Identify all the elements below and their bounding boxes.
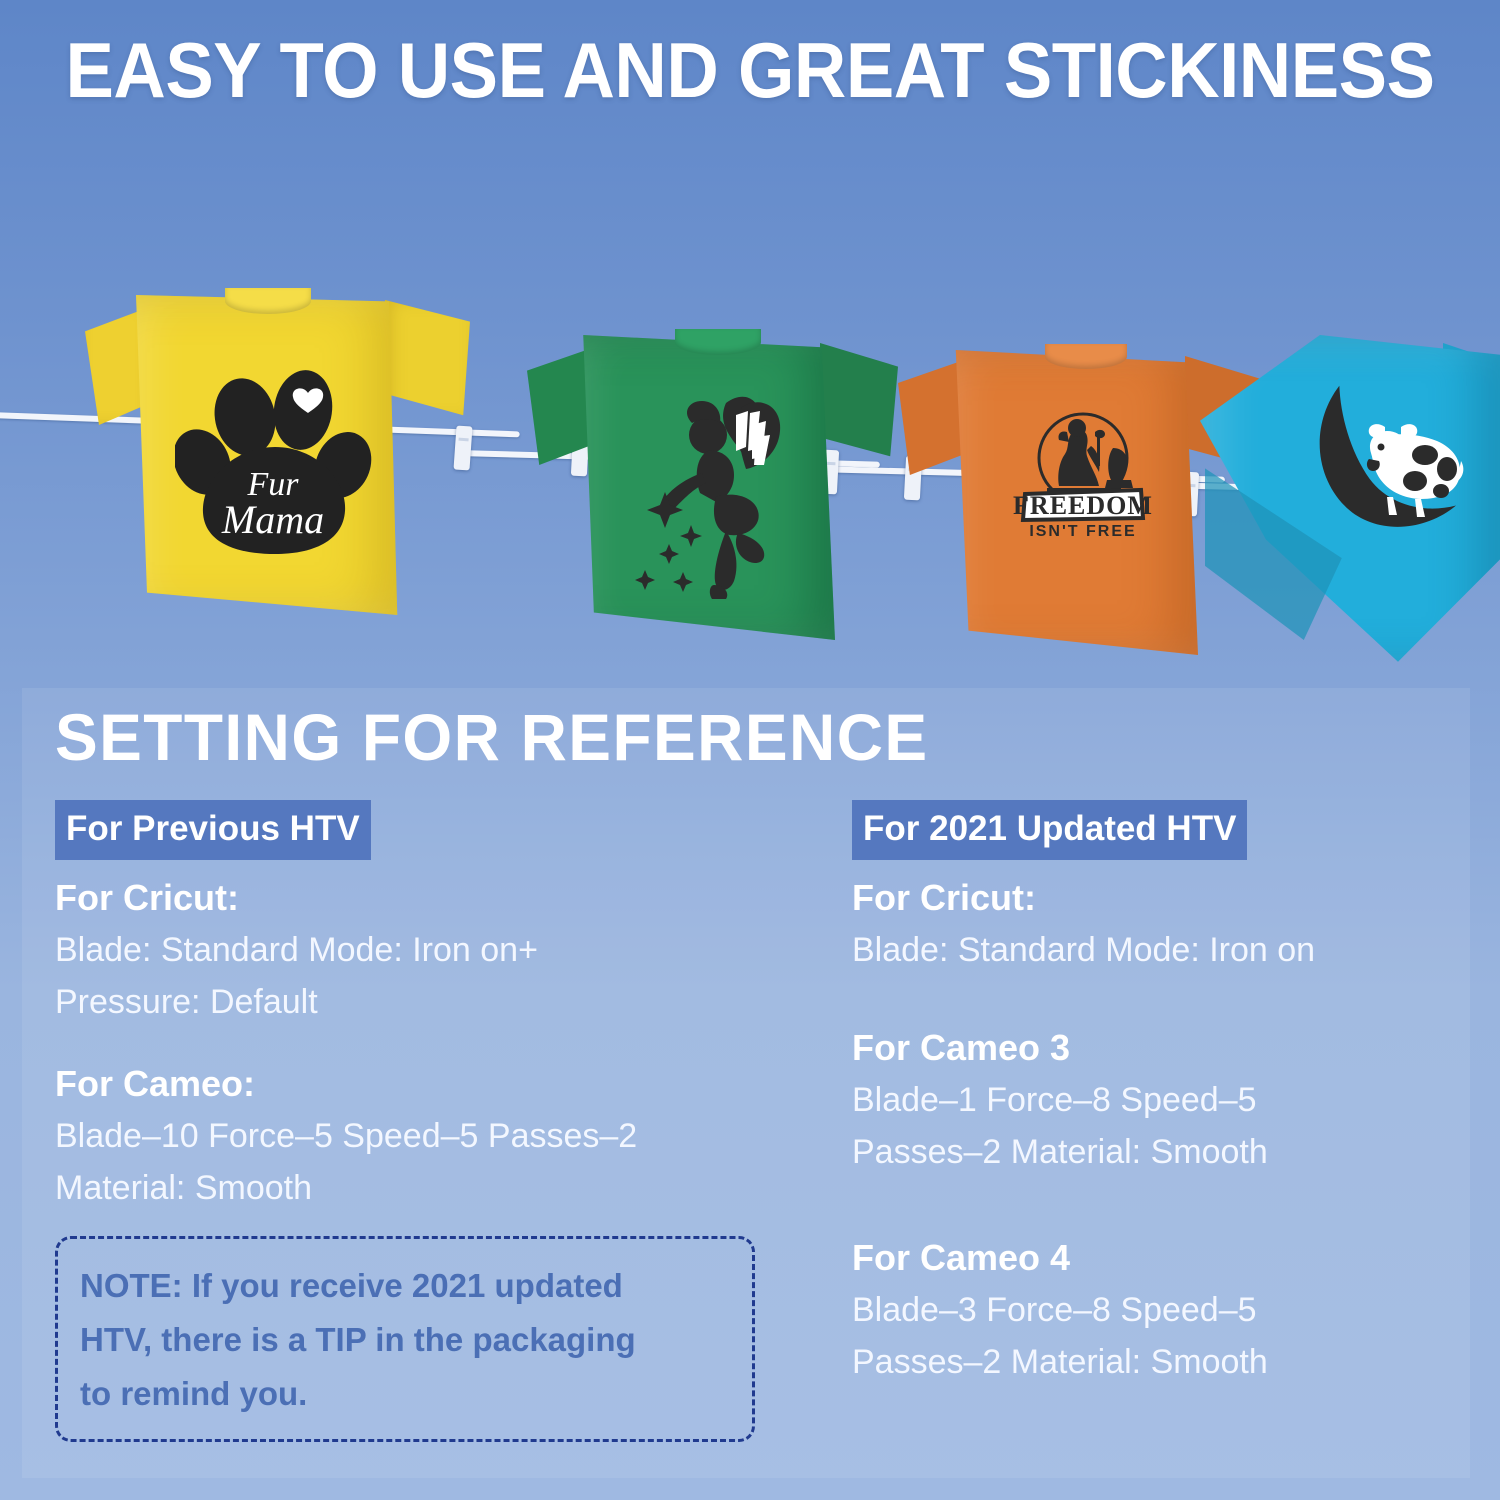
shirt-collar bbox=[225, 288, 311, 314]
block-line: Material: Smooth bbox=[55, 1162, 755, 1214]
settings-block: For Cameo 4 Blade–3 Force–8 Speed–5 Pass… bbox=[852, 1236, 1472, 1388]
sleeve-left bbox=[898, 360, 964, 475]
block-line: Blade–10 Force–5 Speed–5 Passes–2 bbox=[55, 1110, 755, 1162]
tshirt-yellow: Fur Mama bbox=[85, 260, 465, 620]
sleeve-right bbox=[385, 300, 470, 420]
note-line: NOTE: If you receive 2021 updated bbox=[80, 1259, 730, 1313]
block-line: Pressure: Default bbox=[55, 976, 755, 1028]
block-heading: For Cameo 3 bbox=[852, 1026, 1472, 1070]
block-heading: For Cricut: bbox=[55, 876, 755, 920]
settings-column-updated: For 2021 Updated HTV For Cricut: Blade: … bbox=[852, 800, 1472, 1388]
settings-block: For Cameo 3 Blade–1 Force–8 Speed–5 Pass… bbox=[852, 1026, 1472, 1178]
block-heading: For Cricut: bbox=[852, 876, 1472, 920]
note-line: to remind you. bbox=[80, 1367, 730, 1421]
freedom-banner-text: FREEDOM bbox=[1013, 491, 1153, 520]
note-box: NOTE: If you receive 2021 updated HTV, t… bbox=[55, 1236, 755, 1442]
block-heading: For Cameo: bbox=[55, 1062, 755, 1106]
block-line: Blade–1 Force–8 Speed–5 bbox=[852, 1074, 1472, 1126]
shirt-collar bbox=[675, 329, 761, 355]
cow-jumping-over-moon-graphic bbox=[1305, 365, 1485, 555]
tshirt-green bbox=[525, 305, 885, 655]
block-line: Blade–3 Force–8 Speed–5 bbox=[852, 1284, 1472, 1336]
freedom-subtext: ISN'T FREE bbox=[1029, 523, 1136, 540]
tshirt-blue bbox=[1185, 325, 1500, 685]
page-headline: EASY TO USE AND GREAT STICKINESS bbox=[53, 28, 1448, 112]
shirt-collar bbox=[1045, 344, 1127, 369]
fairy-silhouette-graphic bbox=[630, 385, 810, 600]
block-heading: For Cameo 4 bbox=[852, 1236, 1472, 1280]
block-line: Blade: Standard Mode: Iron on+ bbox=[55, 924, 755, 976]
settings-block: For Cricut: Blade: Standard Mode: Iron o… bbox=[55, 876, 755, 1028]
column-header-updated-htv: For 2021 Updated HTV bbox=[852, 800, 1247, 860]
settings-block: For Cameo: Blade–10 Force–5 Speed–5 Pass… bbox=[55, 1062, 755, 1214]
settings-column-previous: For Previous HTV For Cricut: Blade: Stan… bbox=[55, 800, 755, 1214]
freedom-emblem-graphic: FREEDOM ISN'T FREE bbox=[1003, 402, 1163, 542]
settings-panel: SETTING FOR REFERENCE For Previous HTV F… bbox=[22, 688, 1470, 1478]
sleeve-right bbox=[820, 343, 898, 461]
column-header-previous-htv: For Previous HTV bbox=[55, 800, 371, 860]
block-line: Blade: Standard Mode: Iron on bbox=[852, 924, 1472, 976]
block-line: Passes–2 Material: Smooth bbox=[852, 1336, 1472, 1388]
settings-block: For Cricut: Blade: Standard Mode: Iron o… bbox=[852, 876, 1472, 976]
settings-title: SETTING FOR REFERENCE bbox=[55, 702, 929, 772]
paw-print-graphic: Fur Mama bbox=[175, 355, 390, 570]
note-line: HTV, there is a TIP in the packaging bbox=[80, 1313, 730, 1367]
block-line: Passes–2 Material: Smooth bbox=[852, 1126, 1472, 1178]
infographic-page: EASY TO USE AND GREAT STICKINESS bbox=[0, 0, 1500, 1500]
product-photo: Fur Mama bbox=[0, 150, 1500, 695]
paw-text-line2: Mama bbox=[221, 497, 324, 542]
